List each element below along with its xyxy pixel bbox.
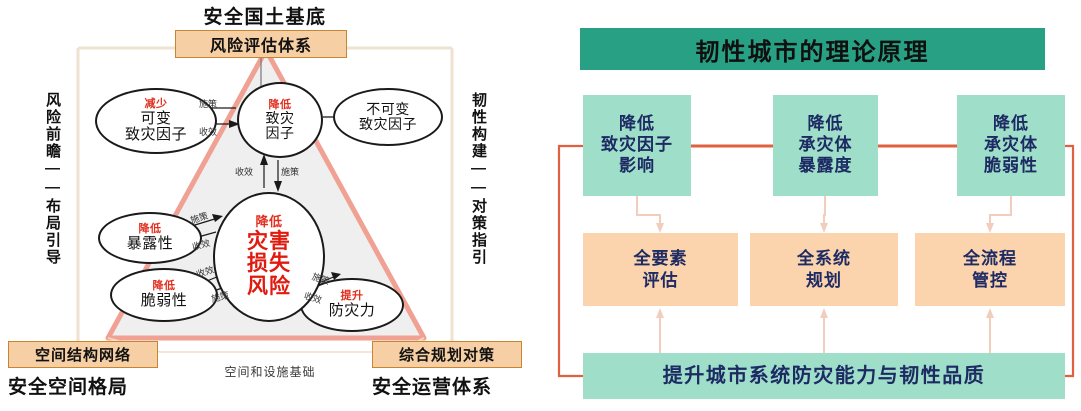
chip-risk-assessment[interactable]: 风险评估体系	[175, 30, 347, 58]
node-line-2: 损失	[247, 253, 291, 276]
node-hazard-factor[interactable]: 降低 致灾 因子	[237, 82, 323, 158]
vertical-label-resilience-building: 韧性构建——对策指引	[468, 92, 489, 266]
node-line-1: 可变	[140, 111, 171, 127]
box-line-3: 脆弱性	[984, 156, 1038, 177]
edge-label-measure: 施策	[199, 97, 217, 110]
green-box-reduce-hazard-impact[interactable]: 降低 致灾因子 影响	[583, 95, 691, 196]
node-line-2: 致灾因子	[125, 127, 187, 143]
node-line-1: 灾害	[247, 231, 291, 254]
node-line-1: 脆弱性	[141, 293, 188, 309]
node-line-1: 暴露性	[127, 236, 174, 252]
box-line-3: 影响	[619, 156, 655, 177]
box-line-1: 降低	[619, 114, 655, 135]
box-line-2: 致灾因子	[601, 135, 673, 156]
box-line-2: 评估	[643, 270, 679, 291]
node-line-2: 致灾因子	[359, 117, 417, 132]
box-line-1: 降低	[993, 114, 1029, 135]
note-spatial-facility-base: 空间和设施基础	[150, 363, 390, 380]
node-line-1: 防灾力	[329, 303, 376, 319]
arrow-bar-o1	[656, 308, 664, 318]
orange-box-all-process-control[interactable]: 全流程 管控	[915, 233, 1065, 306]
page-title-left: 安全国土基底	[0, 2, 530, 29]
arrow-g2-o2	[820, 223, 828, 233]
orange-box-all-elements-assessment[interactable]: 全要素 评估	[583, 233, 738, 306]
vertical-label-risk-foresight: 风险前瞻——布局引导	[42, 92, 63, 266]
box-line-2: 规划	[806, 270, 842, 291]
left-diagram-panel: 安全国土基底 风险评估体系 空间结构网络 综合规划对策 安全空间格局 安全运营体…	[0, 0, 530, 411]
node-fixed-hazard[interactable]: 不可变 致灾因子	[333, 88, 443, 146]
arrow-bar-o2	[820, 308, 828, 318]
green-box-reduce-exposure[interactable]: 降低 承灾体 暴露度	[773, 95, 878, 196]
box-line-1: 全系统	[797, 248, 851, 269]
green-bar-outcome[interactable]: 提升城市系统防灾能力与韧性品质	[583, 353, 1065, 399]
arrow-g1-o1	[656, 223, 664, 233]
chip-spatial-structure[interactable]: 空间结构网络	[8, 341, 158, 368]
edge-label-effect: 收效	[235, 165, 253, 178]
box-line-1: 全流程	[963, 248, 1017, 269]
node-line-1: 致灾	[266, 111, 295, 126]
box-line-3: 暴露度	[799, 156, 853, 177]
box-line-1: 全要素	[634, 248, 688, 269]
feedback-loop-right	[1065, 146, 1073, 376]
caption-spatial-pattern: 安全空间格局	[8, 372, 128, 399]
node-line-3: 风险	[247, 276, 291, 299]
slide-root: 安全国土基底 风险评估体系 空间结构网络 综合规划对策 安全空间格局 安全运营体…	[0, 0, 1081, 411]
arrow-g3-o3	[986, 223, 994, 233]
edge-label-effect: 收效	[199, 125, 217, 138]
box-line-2: 承灾体	[984, 135, 1038, 156]
node-line-1: 不可变	[366, 102, 410, 117]
feedback-loop-left	[559, 146, 583, 376]
box-line-2: 承灾体	[799, 135, 853, 156]
right-diagram-panel: 韧性城市的理论原理 降低 致灾因子 影响 降低 承灾体 暴露度 降低 承灾体 脆…	[545, 0, 1081, 411]
green-box-reduce-vulnerability[interactable]: 降低 承灾体 脆弱性	[957, 95, 1065, 196]
right-panel-title: 韧性城市的理论原理	[580, 28, 1045, 70]
chip-comprehensive-plan[interactable]: 综合规划对策	[372, 341, 522, 368]
box-line-1: 降低	[808, 114, 844, 135]
node-line-2: 因子	[266, 126, 295, 141]
arrow-bar-o3	[986, 308, 994, 318]
node-accent: 降低	[255, 215, 282, 229]
caption-operation-system: 安全运营体系	[372, 372, 492, 399]
connectors-bar-to-orange	[660, 315, 990, 353]
node-exposure[interactable]: 降低 暴露性	[98, 212, 202, 264]
edge-label-measure: 施策	[281, 165, 299, 178]
box-line-2: 管控	[972, 270, 1008, 291]
orange-box-all-systems-planning[interactable]: 全系统 规划	[750, 233, 898, 306]
